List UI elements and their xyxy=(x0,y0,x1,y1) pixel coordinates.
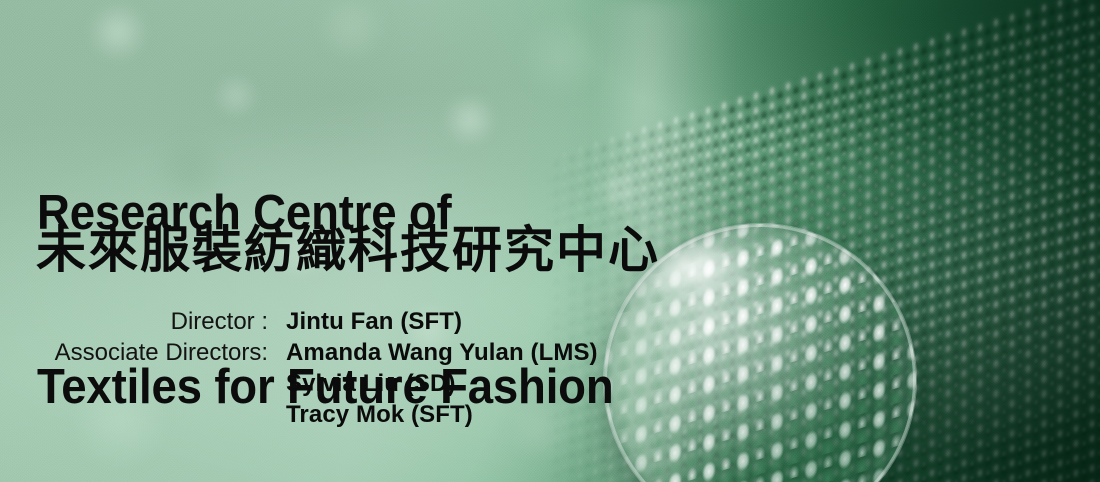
leadership-label: Director : xyxy=(20,308,286,336)
leadership-label: Associate Directors: xyxy=(20,339,286,367)
leadership-name: Amanda Wang Yulan (LMS) xyxy=(286,339,598,367)
leadership-row: Sylvia Liu (SD) xyxy=(20,370,598,401)
banner-root: Research Centre of Textiles for Future F… xyxy=(0,0,1100,482)
leadership-name: Tracy Mok (SFT) xyxy=(286,401,473,429)
leadership-row: Director : Jintu Fan (SFT) xyxy=(20,308,598,339)
leadership-row: Tracy Mok (SFT) xyxy=(20,401,598,432)
leadership-name: Sylvia Liu (SD) xyxy=(286,370,456,398)
leadership-list: Director : Jintu Fan (SFT) Associate Dir… xyxy=(20,308,598,432)
leadership-name: Jintu Fan (SFT) xyxy=(286,308,462,336)
leadership-row: Associate Directors: Amanda Wang Yulan (… xyxy=(20,339,598,370)
centre-title-zh: 未來服裝紡織科技研究中心 xyxy=(36,222,660,278)
